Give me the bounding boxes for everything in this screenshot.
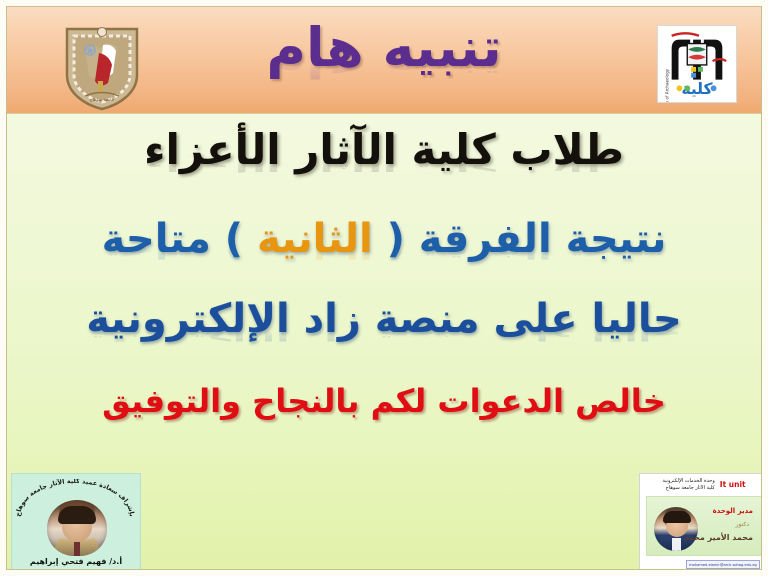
result-text-before-ref: نتيجة الفرقة ( xyxy=(373,242,667,263)
it-manager-hair xyxy=(663,511,691,523)
it-unit-card: It unit وحدة الخدمات الإلكترونية كلية ال… xyxy=(639,473,762,570)
glasses-icon xyxy=(64,520,90,526)
good-wishes-line: خالص الدعوات لكم بالنجاح والتوفيق xyxy=(7,385,761,417)
it-manager-name-prefix: دكتور xyxy=(736,521,749,528)
it-unit-arabic-line-1: وحدة الخدمات الإلكترونية xyxy=(662,478,714,484)
it-manager-shirt xyxy=(672,538,681,551)
faculty-of-archaeology-logo: Faculty of Archaeology كلية xyxy=(657,25,737,103)
dean-tie xyxy=(74,542,80,556)
header-band: جامعة سوهاج تنبيه هام تنبيه هام xyxy=(7,7,761,114)
headline-students-reflection: طلاب كلية الآثار الأعزاء xyxy=(7,154,761,173)
faculty-logo-english: Faculty of Archaeology xyxy=(665,68,670,102)
result-year-highlight-ref: الثانية xyxy=(257,242,373,263)
slide-root: جامعة سوهاج تنبيه هام تنبيه هام xyxy=(0,0,768,576)
platform-line-reflection: حاليا على منصة زاد الإلكترونية xyxy=(7,325,761,343)
slide-frame: جامعة سوهاج تنبيه هام تنبيه هام xyxy=(6,6,762,570)
it-unit-header: It unit وحدة الخدمات الإلكترونية كلية ال… xyxy=(640,478,762,492)
it-unit-body: مدير الوحدة دكتور محمد الأمير محمد xyxy=(646,496,762,556)
it-unit-email: mohamed.elamir@arch.sohag.edu.eg xyxy=(686,560,760,569)
it-manager-avatar xyxy=(654,507,698,551)
dean-card: بإشراف سعادة عميد كلية الآثار جامعة سوها… xyxy=(11,473,141,570)
it-unit-arabic-line-2: كلية الآثار جامعة سوهاج xyxy=(666,485,715,491)
it-unit-subtitle: وحدة الخدمات الإلكترونية كلية الآثار جام… xyxy=(662,478,714,492)
dean-avatar xyxy=(47,500,107,556)
svg-text:جامعة سوهاج: جامعة سوهاج xyxy=(90,98,115,103)
result-text-after-ref: ) متاحة xyxy=(102,242,257,263)
header-title-reflection: تنبيه هام xyxy=(7,57,761,81)
it-manager-role: مدير الوحدة xyxy=(713,507,753,515)
dean-name: أ.د/ فهيم فتحي إبراهيم xyxy=(12,557,140,566)
it-manager-name: محمد الأمير محمد xyxy=(684,533,753,542)
result-available-line-reflection: نتيجة الفرقة ( الثانية ) متاحة xyxy=(7,243,761,261)
it-unit-label: It unit xyxy=(720,480,746,489)
